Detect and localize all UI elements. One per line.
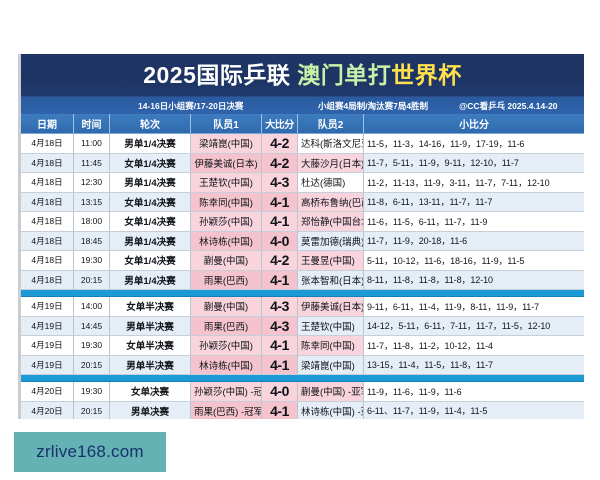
cell-match-score: 4-1 (262, 270, 298, 290)
table-header-row: 日期 时间 轮次 队员1 大比分 队员2 小比分 (21, 114, 584, 134)
table-row: 4月18日11:00男单1/4决赛梁靖崑(中国)4-2达科(斯洛文尼亚)11-5… (21, 134, 584, 154)
cell-date: 4月20日 (21, 401, 74, 419)
cell-match-score: 4-1 (262, 336, 298, 356)
results-table-body: 4月18日11:00男单1/4决赛梁靖崑(中国)4-2达科(斯洛文尼亚)11-5… (21, 134, 584, 420)
cell-round: 女单决赛 (110, 382, 191, 402)
cell-game-scores: 8-11，11-8，11-8，11-8，12-10 (364, 270, 585, 290)
title-banner: 2025国际乒联 澳门单打世界杯 (21, 54, 584, 97)
cell-player2: 莫雷加德(瑞典) (298, 231, 364, 251)
cell-game-scores: 11-7，11-8，11-2，10-12，11-4 (364, 336, 585, 356)
cell-player1: 林诗栋(中国) (191, 231, 262, 251)
cell-date: 4月18日 (21, 153, 74, 173)
cell-game-scores: 9-11，6-11，11-4，11-9，8-11，11-9，11-7 (364, 297, 585, 317)
cell-game-scores: 11-8，6-11，13-11，11-7，11-7 (364, 192, 585, 212)
cell-match-score: 4-3 (262, 316, 298, 336)
cell-game-scores: 11-6，11-5，6-11，11-7，11-9 (364, 212, 585, 232)
cell-player2: 杜达(德国) (298, 173, 364, 193)
watermark: zrlive168.com (14, 432, 166, 472)
title-part-cup: 世界杯 (391, 62, 462, 88)
column-header-game-scores: 小比分 (364, 114, 585, 134)
cell-match-score: 4-1 (262, 355, 298, 375)
cell-round: 女单1/4决赛 (110, 153, 191, 173)
cell-time: 18:45 (74, 231, 110, 251)
cell-player2: 王楚钦(中国) (298, 316, 364, 336)
cell-time: 20:15 (74, 401, 110, 419)
column-header-round: 轮次 (110, 114, 191, 134)
cell-round: 男单1/4决赛 (110, 231, 191, 251)
cell-game-scores: 11-5，11-3，14-16，11-9，17-19，11-6 (364, 134, 585, 154)
section-separator (21, 375, 584, 382)
cell-game-scores: 11-9，11-6，11-9，11-6 (364, 382, 585, 402)
cell-date: 4月18日 (21, 270, 74, 290)
tournament-results-board: 2025国际乒联 澳门单打世界杯 14-16日小组赛/17-20日决赛 小组赛4… (18, 54, 584, 419)
column-header-date: 日期 (21, 114, 74, 134)
cell-round: 男单半决赛 (110, 355, 191, 375)
cell-game-scores: 11-7，11-9，20-18，11-6 (364, 231, 585, 251)
cell-time: 14:45 (74, 316, 110, 336)
cell-match-score: 4-3 (262, 297, 298, 317)
cell-date: 4月18日 (21, 134, 74, 154)
cell-match-score: 4-0 (262, 231, 298, 251)
cell-time: 20:15 (74, 355, 110, 375)
section-separator-bar (21, 375, 584, 382)
cell-player2: 王曼昱(中国) (298, 251, 364, 271)
cell-round: 女单1/4决赛 (110, 212, 191, 232)
cell-player2: 高桥布鲁纳(巴西) (298, 192, 364, 212)
cell-player1: 王楚钦(中国) (191, 173, 262, 193)
cell-time: 19:30 (74, 336, 110, 356)
cell-round: 男单1/4决赛 (110, 134, 191, 154)
watermark-text: zrlive168.com (36, 442, 143, 462)
subtitle-schedule: 14-16日小组赛/17-20日决赛 (138, 100, 243, 112)
cell-player2: 林诗栋(中国) -亚军 (298, 401, 364, 419)
cell-player1: 孙颖莎(中国) (191, 212, 262, 232)
cell-player1: 梁靖崑(中国) (191, 134, 262, 154)
cell-match-score: 4-2 (262, 251, 298, 271)
results-table: 日期 时间 轮次 队员1 大比分 队员2 小比分 4月18日11:00男单1/4… (21, 114, 584, 419)
cell-game-scores: 6-11、11-7，11-9，11-4，11-5 (364, 401, 585, 419)
table-row: 4月20日20:15男单决赛雨果(巴西) -冠军4-1林诗栋(中国) -亚军6-… (21, 401, 584, 419)
cell-player1: 伊藤美诚(日本) (191, 153, 262, 173)
subtitle-format: 小组赛4局制/淘汰赛7局4胜制 (318, 100, 428, 112)
cell-time: 18:00 (74, 212, 110, 232)
table-row: 4月18日18:45男单1/4决赛林诗栋(中国)4-0莫雷加德(瑞典)11-7，… (21, 231, 584, 251)
cell-player1: 雨果(巴西) -冠军 (191, 401, 262, 419)
cell-game-scores: 13-15，11-4，11-5，11-8，11-7 (364, 355, 585, 375)
cell-time: 19:30 (74, 251, 110, 271)
cell-player1: 雨果(巴西) (191, 270, 262, 290)
cell-match-score: 4-1 (262, 212, 298, 232)
column-header-player2: 队员2 (298, 114, 364, 134)
cell-time: 19:30 (74, 382, 110, 402)
cell-player1: 陈幸同(中国) (191, 192, 262, 212)
cell-round: 女单半决赛 (110, 297, 191, 317)
cell-round: 女单1/4决赛 (110, 251, 191, 271)
column-header-match-score: 大比分 (262, 114, 298, 134)
table-row: 4月18日20:15男单1/4决赛雨果(巴西)4-1张本智和(日本)8-11，1… (21, 270, 584, 290)
table-row: 4月19日14:00女单半决赛蒯曼(中国)4-3伊藤美诚(日本)9-11，6-1… (21, 297, 584, 317)
cell-match-score: 4-3 (262, 173, 298, 193)
cell-game-scores: 11-2，11-13，11-9，3-11，11-7，7-11，12-10 (364, 173, 585, 193)
table-row: 4月19日14:45男单半决赛雨果(巴西)4-3王楚钦(中国)14-12，5-1… (21, 316, 584, 336)
cell-player1: 蒯曼(中国) (191, 297, 262, 317)
subtitle-credit: @CC看乒乓 2025.4.14-20 (459, 100, 558, 112)
page-title: 2025国际乒联 澳门单打世界杯 (143, 64, 462, 87)
cell-date: 4月18日 (21, 231, 74, 251)
cell-date: 4月19日 (21, 297, 74, 317)
cell-player2: 张本智和(日本) (298, 270, 364, 290)
table-row: 4月19日19:30女单半决赛孙颖莎(中国)4-1陈幸同(中国)11-7，11-… (21, 336, 584, 356)
cell-player2: 陈幸同(中国) (298, 336, 364, 356)
cell-round: 男单1/4决赛 (110, 270, 191, 290)
cell-player1: 雨果(巴西) (191, 316, 262, 336)
cell-date: 4月18日 (21, 173, 74, 193)
table-row: 4月18日11:45女单1/4决赛伊藤美诚(日本)4-2大藤沙月(日本)11-7… (21, 153, 584, 173)
cell-player1: 林诗栋(中国) (191, 355, 262, 375)
cell-match-score: 4-1 (262, 192, 298, 212)
cell-round: 男单半决赛 (110, 316, 191, 336)
column-header-player1: 队员1 (191, 114, 262, 134)
cell-player1: 孙颖莎(中国) -冠军 (191, 382, 262, 402)
cell-match-score: 4-1 (262, 401, 298, 419)
cell-player2: 郑怡静(中国台北) (298, 212, 364, 232)
cell-time: 11:00 (74, 134, 110, 154)
cell-date: 4月19日 (21, 316, 74, 336)
cell-game-scores: 11-7，5-11，11-9，9-11，12-10，11-7 (364, 153, 585, 173)
cell-player2: 伊藤美诚(日本) (298, 297, 364, 317)
cell-date: 4月18日 (21, 212, 74, 232)
cell-time: 11:45 (74, 153, 110, 173)
cell-time: 12:30 (74, 173, 110, 193)
table-row: 4月18日18:00女单1/4决赛孙颖莎(中国)4-1郑怡静(中国台北)11-6… (21, 212, 584, 232)
cell-time: 13:15 (74, 192, 110, 212)
cell-round: 男单决赛 (110, 401, 191, 419)
section-separator (21, 290, 584, 297)
cell-player1: 孙颖莎(中国) (191, 336, 262, 356)
cell-date: 4月19日 (21, 355, 74, 375)
table-row: 4月19日20:15男单半决赛林诗栋(中国)4-1梁靖崑(中国)13-15，11… (21, 355, 584, 375)
cell-match-score: 4-2 (262, 153, 298, 173)
cell-time: 20:15 (74, 270, 110, 290)
cell-player1: 蒯曼(中国) (191, 251, 262, 271)
cell-match-score: 4-2 (262, 134, 298, 154)
cell-date: 4月18日 (21, 192, 74, 212)
cell-round: 女单半决赛 (110, 336, 191, 356)
cell-date: 4月20日 (21, 382, 74, 402)
table-row: 4月18日19:30女单1/4决赛蒯曼(中国)4-2王曼昱(中国)5-11，10… (21, 251, 584, 271)
table-row: 4月20日19:30女单决赛孙颖莎(中国) -冠军4-0蒯曼(中国) -亚军11… (21, 382, 584, 402)
cell-round: 男单1/4决赛 (110, 173, 191, 193)
cell-date: 4月19日 (21, 336, 74, 356)
cell-game-scores: 5-11，10-12，11-6，18-16，11-9，11-5 (364, 251, 585, 271)
cell-player2: 大藤沙月(日本) (298, 153, 364, 173)
cell-date: 4月18日 (21, 251, 74, 271)
cell-game-scores: 14-12，5-11，6-11，7-11，11-7，11-5，12-10 (364, 316, 585, 336)
column-header-time: 时间 (74, 114, 110, 134)
title-part-event: 2025国际乒联 (143, 62, 290, 88)
table-row: 4月18日12:30男单1/4决赛王楚钦(中国)4-3杜达(德国)11-2，11… (21, 173, 584, 193)
section-separator-bar (21, 290, 584, 297)
cell-player2: 达科(斯洛文尼亚) (298, 134, 364, 154)
title-part-venue: 澳门单打 (297, 62, 391, 88)
subtitle-bar: 14-16日小组赛/17-20日决赛 小组赛4局制/淘汰赛7局4胜制 @CC看乒… (21, 97, 584, 114)
cell-match-score: 4-0 (262, 382, 298, 402)
cell-round: 女单1/4决赛 (110, 192, 191, 212)
cell-player2: 梁靖崑(中国) (298, 355, 364, 375)
cell-player2: 蒯曼(中国) -亚军 (298, 382, 364, 402)
cell-time: 14:00 (74, 297, 110, 317)
table-row: 4月18日13:15女单1/4决赛陈幸同(中国)4-1高桥布鲁纳(巴西)11-8… (21, 192, 584, 212)
